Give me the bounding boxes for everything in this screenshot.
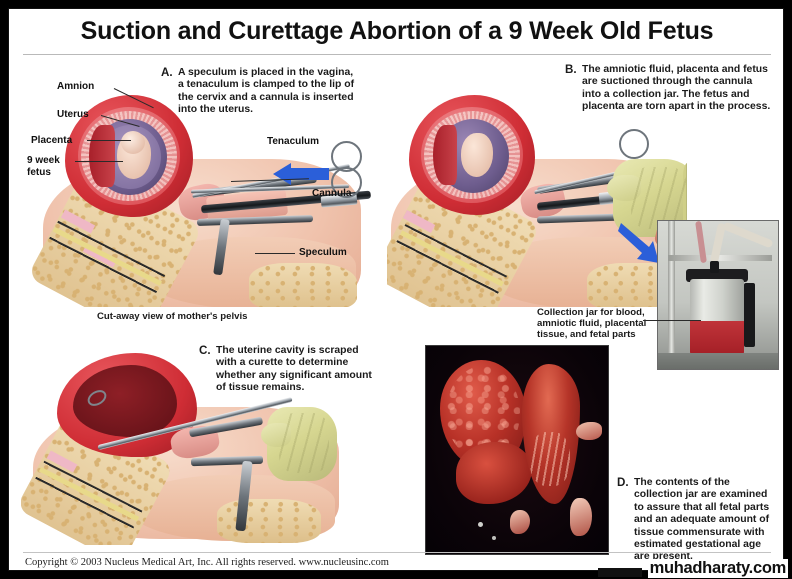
pubic-bone <box>217 499 321 543</box>
panel-a-body: A speculum is placed in the vagina, a te… <box>178 67 361 117</box>
label-uterus: Uterus <box>57 109 89 121</box>
fetal-rib-detail <box>530 432 570 486</box>
watermark-bar <box>598 568 642 577</box>
panel-a-text: A. A speculum is placed in the vagina, a… <box>161 67 361 117</box>
placenta <box>89 125 115 187</box>
panel-d-body: The contents of the collection jar are e… <box>634 477 779 564</box>
panel-c-text: C. The uterine cavity is scraped with a … <box>199 345 377 395</box>
label-9-week-fetus: 9 week fetus <box>27 155 77 178</box>
panel-d-text: D. The contents of the collection jar ar… <box>617 477 779 564</box>
panel-b-body: The amniotic fluid, placenta and fetus a… <box>582 64 773 114</box>
jar-contents <box>690 321 744 355</box>
iv-pole-crossbar <box>668 255 772 261</box>
suction-arrow-icon <box>271 163 331 185</box>
panel-a-caption: Cut-away view of mother's pelvis <box>97 311 248 322</box>
panel-c-body: The uterine cavity is scraped with a cur… <box>216 345 377 395</box>
panel-c-letter: C. <box>199 345 211 357</box>
leader-jar-caption <box>643 320 701 321</box>
jar-side-clamp <box>744 283 755 347</box>
limb-fragment <box>576 422 602 440</box>
poster-page: Suction and Curettage Abortion of a 9 We… <box>8 8 784 571</box>
pubic-bone <box>249 263 357 307</box>
leader-fetus <box>75 161 123 162</box>
collection-jar-photo <box>657 220 779 370</box>
panel-d-letter: D. <box>617 477 629 489</box>
label-speculum: Speculum <box>299 247 347 259</box>
panel-b-letter: B. <box>565 64 577 76</box>
glove-shading <box>279 413 329 473</box>
poster-root: Suction and Curettage Abortion of a 9 We… <box>0 0 792 579</box>
tissue-speck <box>492 536 496 540</box>
jar-table-surface <box>658 353 778 369</box>
jar-valve <box>710 261 719 273</box>
label-tenaculum: Tenaculum <box>267 136 319 148</box>
tenaculum-ring <box>619 129 649 159</box>
fetal-parts-photo <box>425 345 609 555</box>
placenta <box>433 125 457 185</box>
label-fetus-line1: 9 week <box>27 155 60 166</box>
watermark-text: muhadharaty.com <box>648 559 788 578</box>
label-placenta: Placenta <box>31 135 72 147</box>
title-divider <box>23 54 771 55</box>
panel-a-letter: A. <box>161 67 173 79</box>
iv-pole <box>668 221 675 369</box>
tissue-speck <box>478 522 483 527</box>
footer-divider <box>23 552 771 553</box>
label-fetus-line2: fetus <box>27 167 51 178</box>
panel-b-text: B. The amniotic fluid, placenta and fetu… <box>565 64 773 114</box>
fetus-head <box>121 131 145 154</box>
label-amnion: Amnion <box>57 81 94 93</box>
page-title: Suction and Curettage Abortion of a 9 We… <box>9 17 784 46</box>
leader-placenta <box>87 140 131 141</box>
jar-inset-caption: Collection jar for blood, amniotic fluid… <box>537 307 647 340</box>
copyright-notice: Copyright © 2003 Nucleus Medical Art, In… <box>25 557 389 568</box>
label-cannula: Cannula <box>312 188 351 200</box>
leader-speculum <box>255 253 295 254</box>
